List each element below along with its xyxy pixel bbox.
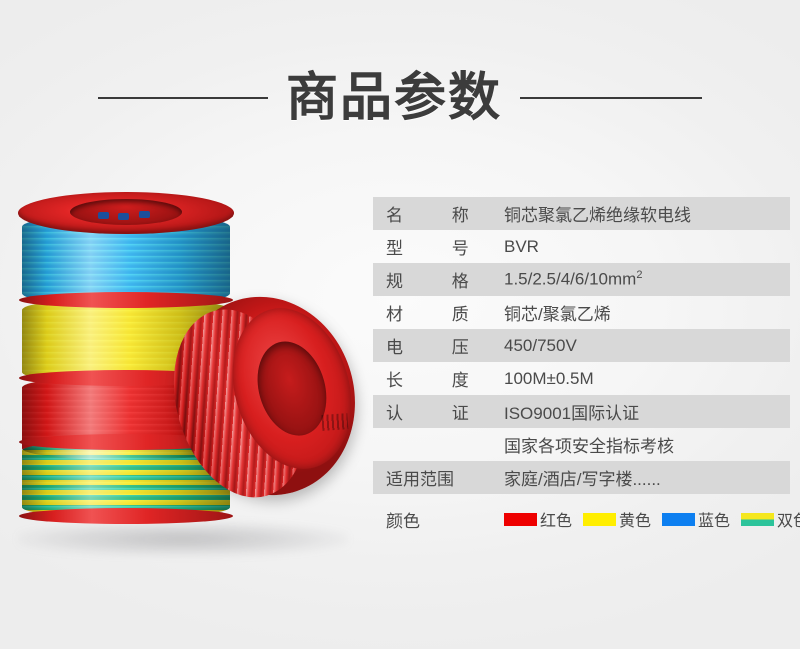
table-row: 国家各项安全指标考核: [373, 428, 790, 461]
header-rule-left: [98, 97, 268, 99]
color-label: 双色: [777, 507, 800, 531]
product-image: [0, 178, 360, 578]
spec-label: 名 称: [386, 201, 504, 226]
table-row: 型 号 BVR: [373, 230, 790, 263]
table-row: 材 质 铜芯/聚氯乙烯: [373, 296, 790, 329]
product-shadow: [18, 522, 348, 556]
leaning-spool-embossing: [321, 413, 348, 431]
header-rule-right: [520, 97, 702, 99]
spec-value: 铜芯/聚氯乙烯: [504, 300, 611, 325]
spec-value: BVR: [504, 237, 539, 257]
spec-value: ISO9001国际认证: [504, 399, 639, 424]
spec-value: 1.5/2.5/4/6/10mm2: [504, 269, 642, 290]
table-row: 规 格 1.5/2.5/4/6/10mm2: [373, 263, 790, 296]
color-label: 黄色: [619, 507, 651, 531]
spec-label: 材 质: [386, 300, 504, 325]
color-label: 蓝色: [698, 507, 730, 531]
color-row: 颜色 红色 黄色 蓝色 双色: [373, 499, 790, 539]
color-swatch-list: 红色 黄色 蓝色 双色: [504, 507, 800, 531]
red-swatch: [504, 513, 537, 526]
spec-label: 规 格: [386, 267, 504, 292]
spec-label: 认 证: [386, 399, 504, 424]
spec-value: 铜芯聚氯乙烯绝缘软电线: [504, 201, 691, 226]
spec-value: 家庭/酒店/写字楼......: [504, 465, 661, 490]
yellow-swatch: [583, 513, 616, 526]
table-row: 认 证 ISO9001国际认证: [373, 395, 790, 428]
reel-clip-b: [118, 213, 129, 220]
spec-label: 电 压: [386, 333, 504, 358]
color-label: 红色: [540, 507, 572, 531]
spec-value: 国家各项安全指标考核: [504, 432, 674, 457]
spec-label: 长 度: [386, 366, 504, 391]
color-option-blue[interactable]: 蓝色: [662, 507, 730, 531]
color-option-yellow[interactable]: 黄色: [583, 507, 651, 531]
dual-color-swatch: [741, 513, 774, 526]
reel-clip-c: [139, 211, 150, 218]
table-row: 电 压 450/750V: [373, 329, 790, 362]
reel-clip-a: [98, 212, 109, 219]
color-option-red[interactable]: 红色: [504, 507, 572, 531]
page-title: 商品参数: [286, 72, 502, 124]
reel-center-hole: [70, 199, 182, 225]
reel-top-face: [18, 192, 234, 234]
table-row: 名 称 铜芯聚氯乙烯绝缘软电线: [373, 197, 790, 230]
spec-label: 型 号: [386, 234, 504, 259]
table-row: 适用范围 家庭/酒店/写字楼......: [373, 461, 790, 494]
color-option-dual[interactable]: 双色: [741, 507, 800, 531]
spec-label: 适用范围: [386, 465, 504, 490]
spec-value-text: 1.5/2.5/4/6/10mm: [504, 270, 636, 289]
spec-value-superscript: 2: [636, 269, 642, 281]
spec-value: 100M±0.5M: [504, 369, 594, 389]
reel-flange-2: [19, 292, 233, 308]
color-row-label: 颜色: [386, 507, 504, 532]
spec-value: 450/750V: [504, 336, 577, 356]
page-header: 商品参数: [0, 52, 800, 144]
reel-flange-bottom: [19, 508, 233, 524]
spec-table: 名 称 铜芯聚氯乙烯绝缘软电线 型 号 BVR 规 格 1.5/2.5/4/6/…: [373, 197, 790, 539]
blue-swatch: [662, 513, 695, 526]
table-row: 长 度 100M±0.5M: [373, 362, 790, 395]
